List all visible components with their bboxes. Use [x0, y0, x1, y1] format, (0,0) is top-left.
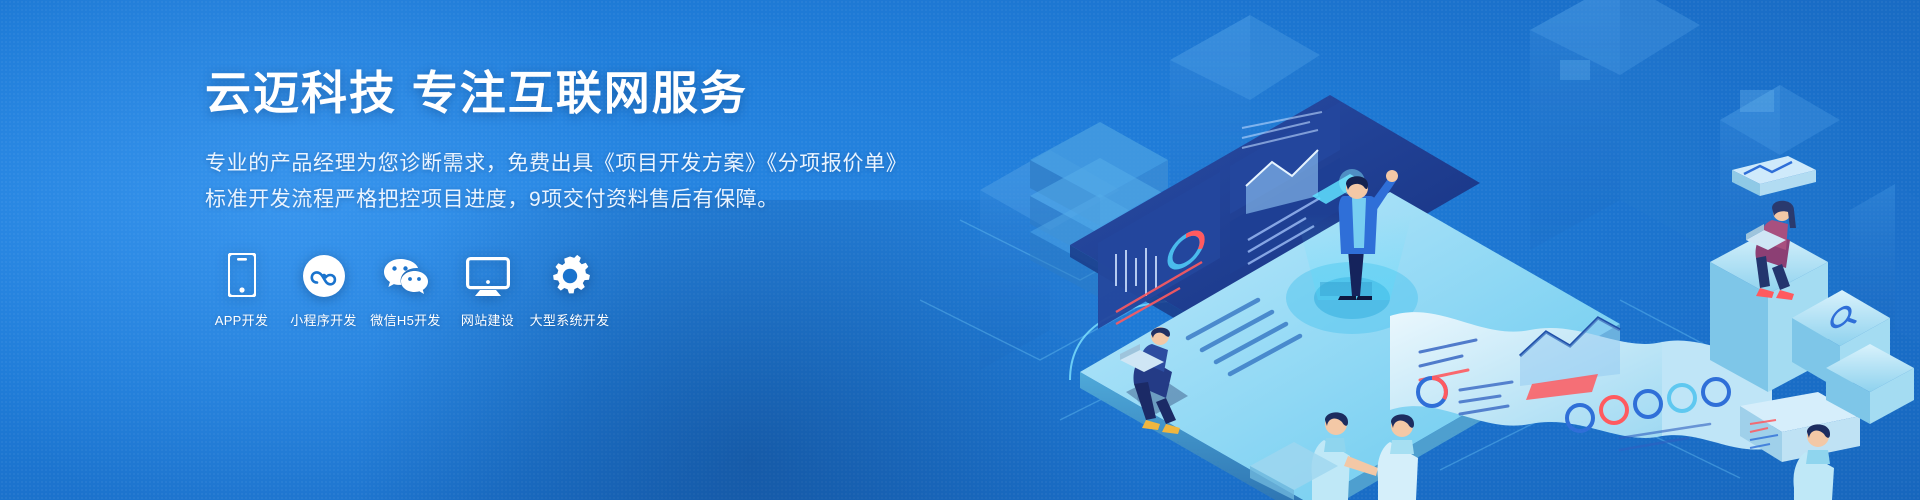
illustration-isometric-dashboard: [920, 0, 1920, 500]
banner-subtitle-line-2: 标准开发流程严格把控项目进度，9项交付资料售后有保障。: [205, 183, 965, 217]
service-item-website[interactable]: 网站建设: [451, 251, 524, 329]
monitor-icon: [466, 251, 510, 297]
service-item-large-system[interactable]: 大型系统开发: [533, 251, 606, 329]
banner-subtitle-line-1: 专业的产品经理为您诊断需求，免费出具《项目开发方案》《分项报价单》: [205, 147, 965, 181]
gear-icon: [549, 251, 591, 297]
banner-headline: 云迈科技 专注互联网服务: [205, 66, 965, 121]
mini-program-icon: [303, 251, 345, 297]
hero-banner: 云迈科技 专注互联网服务 专业的产品经理为您诊断需求，免费出具《项目开发方案》《…: [0, 0, 1920, 500]
service-label-mini-program: 小程序开发: [290, 310, 357, 329]
service-label-wechat-h5: 微信H5开发: [370, 310, 440, 329]
service-label-large-system: 大型系统开发: [530, 310, 610, 329]
service-label-app: APP开发: [215, 310, 269, 329]
banner-content: 云迈科技 专注互联网服务 专业的产品经理为您诊断需求，免费出具《项目开发方案》《…: [205, 66, 965, 329]
service-item-mini-program[interactable]: 小程序开发: [287, 251, 360, 329]
service-label-website: 网站建设: [461, 310, 514, 329]
wechat-icon: [383, 251, 429, 297]
mobile-phone-icon: [228, 251, 256, 297]
service-item-wechat-h5[interactable]: 微信H5开发: [369, 251, 442, 329]
service-item-app[interactable]: APP开发: [205, 251, 278, 329]
service-icon-row: APP开发 小程序开发: [205, 251, 965, 329]
